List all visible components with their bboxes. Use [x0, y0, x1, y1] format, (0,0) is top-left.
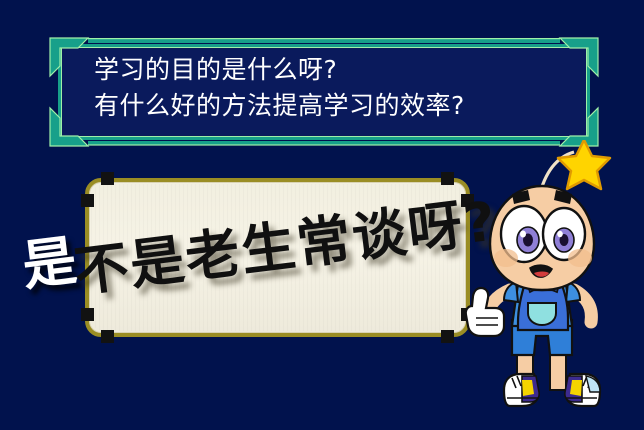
- answer-panel-background: [85, 178, 470, 337]
- cheek-right: [568, 249, 592, 267]
- corner-mark-top-left-a: [81, 194, 94, 207]
- answer-lead-character: 是: [17, 216, 81, 301]
- answer-panel: [85, 178, 470, 337]
- corner-mark-top-right-b: [441, 172, 454, 185]
- corner-mark-top-left-b: [101, 172, 114, 185]
- cartoon-boy-mascot: [460, 140, 644, 430]
- overall-pocket: [528, 303, 556, 325]
- question-text: 学习的目的是什么呀? 有什么好的方法提高学习的效率?: [94, 52, 580, 124]
- head: [490, 186, 594, 290]
- corner-mark-bottom-left-b: [101, 330, 114, 343]
- question-frame: 学习的目的是什么呀? 有什么好的方法提高学习的效率?: [48, 36, 600, 148]
- corner-mark-bottom-left-a: [81, 308, 94, 321]
- slide-canvas: 学习的目的是什么呀? 有什么好的方法提高学习的效率? 是 不是老生常谈呀?: [0, 0, 644, 430]
- corner-mark-bottom-right-b: [441, 330, 454, 343]
- cheek-left: [494, 249, 518, 267]
- answer-panel-texture: [91, 184, 464, 331]
- star-icon: [558, 140, 610, 189]
